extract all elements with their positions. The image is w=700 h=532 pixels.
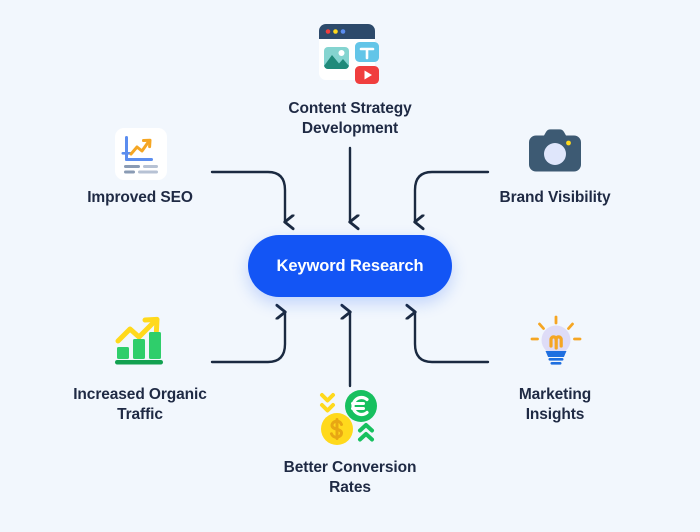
center-node-label: Keyword Research	[277, 257, 424, 276]
node-label-better-conversion-rates: Better Conversion Rates	[250, 458, 450, 498]
node-label-increased-organic-traffic: Increased Organic Traffic	[40, 385, 240, 425]
lightbulb-icon	[527, 315, 585, 372]
seo-report-icon	[114, 127, 168, 186]
diagram-canvas: Keyword Research	[0, 0, 700, 532]
arrow-increased-organic-traffic	[212, 312, 285, 362]
node-label-content-strategy-development: Content Strategy Development	[250, 99, 450, 139]
camera-icon	[527, 127, 583, 182]
node-label-brand-visibility: Brand Visibility	[455, 188, 655, 208]
node-label-marketing-insights: Marketing Insights	[455, 385, 655, 425]
arrow-marketing-insights	[415, 312, 488, 362]
content-browser-icon	[317, 22, 383, 91]
node-label-improved-seo: Improved SEO	[40, 188, 240, 208]
coins-conversion-icon	[316, 388, 384, 455]
growth-bar-chart-icon	[112, 315, 170, 372]
center-node-keyword-research[interactable]: Keyword Research	[248, 235, 452, 297]
